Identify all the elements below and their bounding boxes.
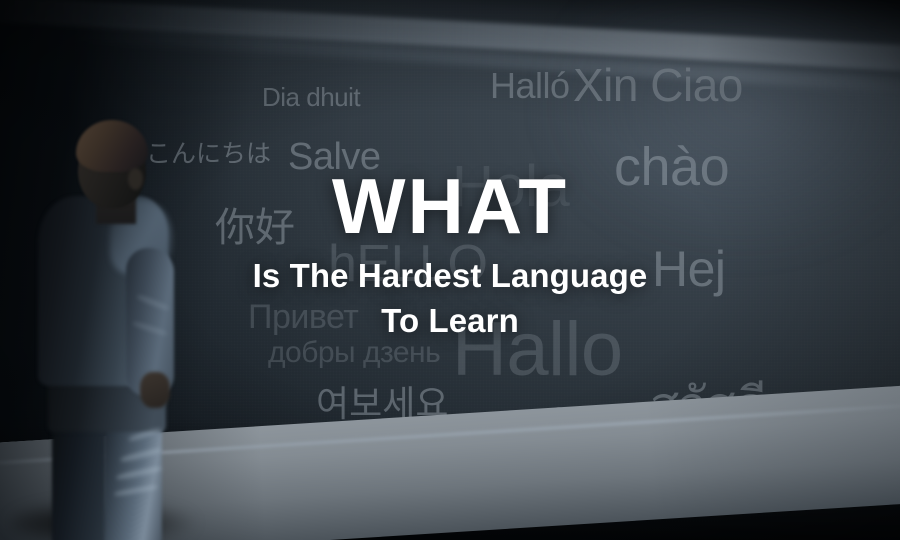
person-hand bbox=[140, 372, 170, 408]
banner-image: Dia dhuitこんにちはSalveHallóXin Ciaochào你好hE… bbox=[0, 0, 900, 540]
page-title: WHAT bbox=[0, 168, 900, 244]
person-hair bbox=[76, 120, 148, 172]
subtitle-line-2: To Learn bbox=[0, 299, 900, 344]
subtitle-line-1: Is The Hardest Language bbox=[0, 254, 900, 299]
headline-block: WHAT Is The Hardest Language To Learn bbox=[0, 168, 900, 344]
